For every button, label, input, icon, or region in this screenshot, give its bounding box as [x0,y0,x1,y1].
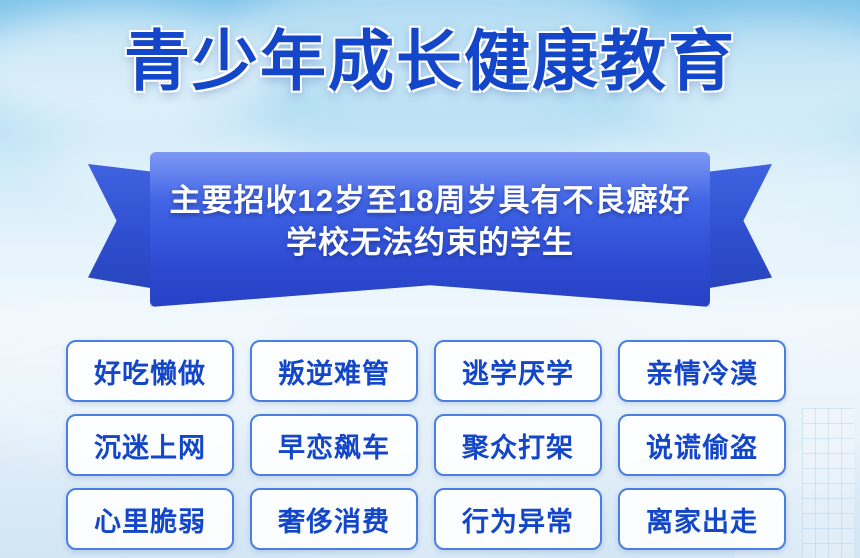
tag-item[interactable]: 亲情冷漠 [618,340,786,402]
ribbon-line-1: 主要招收12岁至18周岁具有不良癖好 [150,180,710,222]
ribbon-banner: 主要招收12岁至18周岁具有不良癖好 学校无法约束的学生 [0,152,860,312]
tag-item[interactable]: 聚众打架 [434,414,602,476]
tag-item[interactable]: 心里脆弱 [66,488,234,550]
page-title: 青少年成长健康教育 [0,28,860,94]
poster-canvas: 青少年成长健康教育 主要招收12岁至18周岁具有不良癖好 学校无法约束的学生 好… [0,0,860,558]
tag-item[interactable]: 沉迷上网 [66,414,234,476]
tag-item[interactable]: 逃学厌学 [434,340,602,402]
building-silhouette [802,408,854,558]
tag-grid: 好吃懒做 叛逆难管 逃学厌学 亲情冷漠 沉迷上网 早恋飙车 聚众打架 说谎偷盗 … [66,340,794,550]
building-window-grid [802,408,854,558]
ribbon-line-2: 学校无法约束的学生 [150,222,710,264]
tag-item[interactable]: 好吃懒做 [66,340,234,402]
tag-item[interactable]: 早恋飙车 [250,414,418,476]
ribbon-text: 主要招收12岁至18周岁具有不良癖好 学校无法约束的学生 [150,180,710,264]
tag-item[interactable]: 奢侈消费 [250,488,418,550]
tag-item[interactable]: 离家出走 [618,488,786,550]
tag-item[interactable]: 叛逆难管 [250,340,418,402]
tag-item[interactable]: 行为异常 [434,488,602,550]
tag-item[interactable]: 说谎偷盗 [618,414,786,476]
